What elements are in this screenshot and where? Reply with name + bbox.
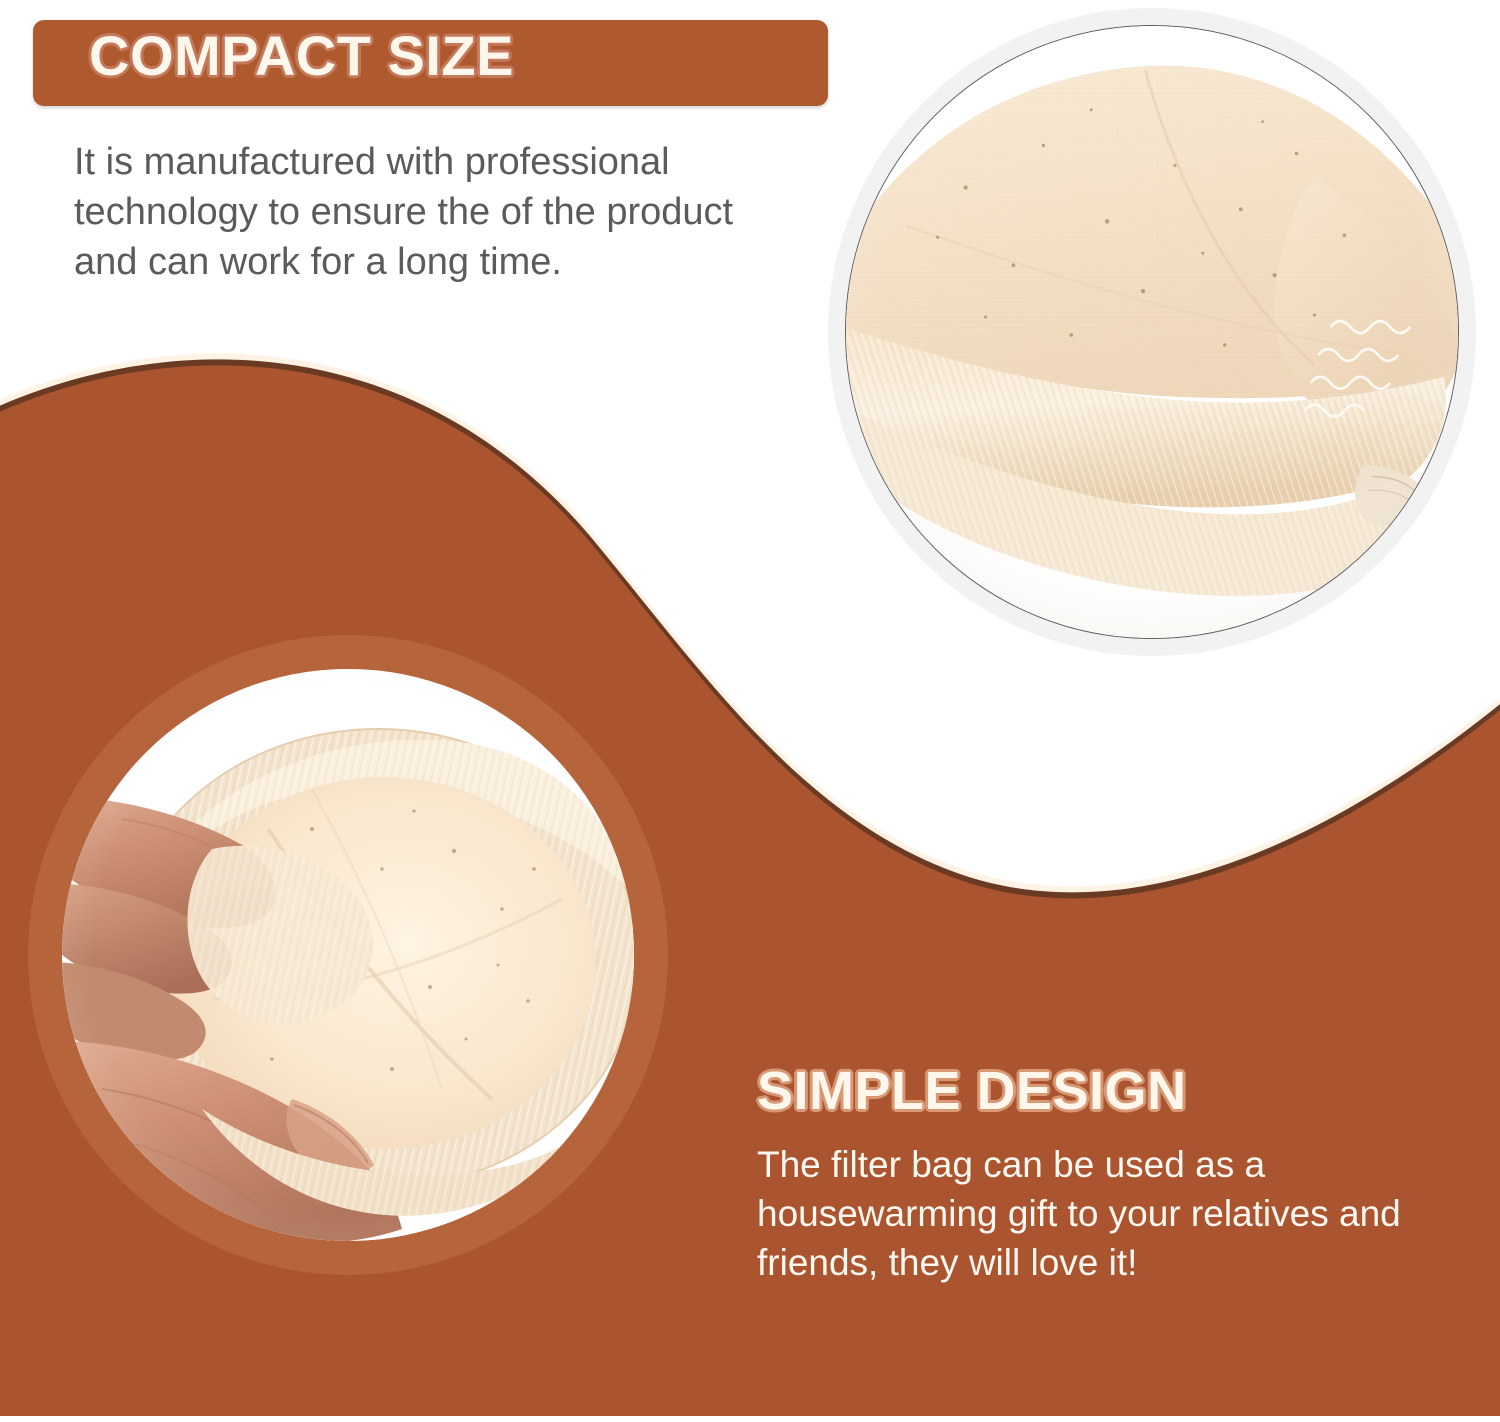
compact-size-title: COMPACT SIZE — [89, 23, 514, 88]
infographic-canvas: COMPACT SIZE It is manufactured with pro… — [0, 0, 1500, 1422]
photo-folded-filter-bag — [845, 25, 1459, 639]
photo-hand-holding-bag — [62, 669, 634, 1241]
simple-design-body-text: The filter bag can be used as a housewar… — [757, 1140, 1457, 1288]
simple-design-title: SIMPLE DESIGN — [757, 1064, 1457, 1118]
compact-size-body-text: It is manufactured with professional tec… — [74, 137, 784, 287]
bottom-left-photo-alt: A hand holding an open round cotton filt… — [0, 0, 1, 1]
hand-holding-bag-illustration — [62, 669, 634, 1241]
top-right-photo-alt: Close-up of a folded cream cotton filter… — [0, 0, 1, 1]
folded-bag-illustration — [846, 26, 1458, 638]
simple-design-block: SIMPLE DESIGN The filter bag can be used… — [757, 1064, 1457, 1288]
